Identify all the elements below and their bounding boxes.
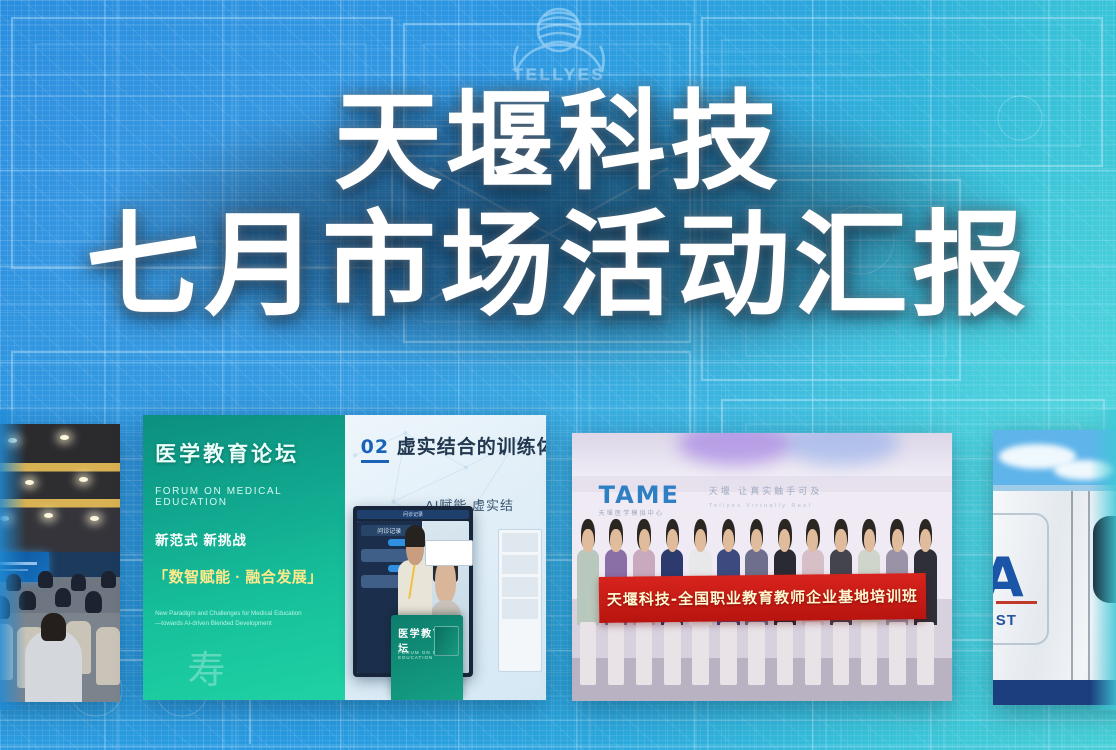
conference-hall-image [0,424,120,702]
tame-logo-subtitle: 天堰医学模拟中心 [599,508,665,517]
vehicle-logo-rule [996,601,1038,604]
photo-medical-education-forum: 医学教育论坛 FORUM ON MEDICAL EDUCATION 新范式 新挑… [143,415,546,700]
forum-backdrop-banner: 医学教育论坛 FORUM ON MEDICAL EDUCATION 新范式 新挑… [143,415,345,700]
forum-theme-en: New Paradigm and Challenges for Medical … [155,609,332,629]
vehicle-logo-letter: A [993,546,1024,609]
slide-number: 02 [361,436,389,463]
tablet-app-name: 问诊记录 [403,511,423,518]
training-class-banner: 天堰科技-全国职业教育教师企业基地培训班 [598,573,925,623]
venue-slogan-en: Tellyes Virtually Real [709,503,812,509]
slide-title: 虚实结合的训练体系 [397,436,546,458]
forum-theme-en-2: —towards AI-driven Blended Development [155,620,272,627]
group-photo-image: TAME 天堰医学模拟中心 天堰 让真实触手可及 Tellyes Virtual… [572,433,952,701]
page-title: 天堰科技 [0,86,1116,200]
tablet-titlebar: 问诊记录 [357,510,470,519]
vehicle-logo-text: ST [996,612,1017,629]
forum-watermark-icon: 寿 [187,639,225,694]
poster-headline: 天堰科技 七月市场活动汇报 [0,86,1116,327]
presentation-slide: 02 虚实结合的训练体系 AI赋能 虚实结 问诊记录 问诊记录 [345,415,547,700]
forum-theme-en-1: New Paradigm and Challenges for Medical … [155,610,302,617]
speaker-hair [405,525,425,547]
clinic-shelf-decor [498,529,542,672]
forum-theme-1: 新范式 新挑战 [155,529,247,549]
tame-logo: TAME [599,481,680,509]
photo-training-group: TAME 天堰医学模拟中心 天堰 让真实触手可及 Tellyes Virtual… [572,433,952,701]
photo-mobile-unit: A ST [993,430,1116,705]
forum-title-en: FORUM ON MEDICAL EDUCATION [155,486,344,508]
podium-badge [434,626,459,655]
page-subtitle: 七月市场活动汇报 [0,206,1116,327]
slide-title-line: 02 虚实结合的训练体系 [361,432,546,459]
photo-conference-hall [0,424,120,702]
vehicle-skirt [993,680,1116,694]
forum-title-cn: 医学教育论坛 [155,438,299,468]
forum-podium: 医学教育论坛 FORUM ON MEDICAL EDUCATION [391,615,464,701]
training-class-banner-text: 天堰科技-全国职业教育教师企业基地培训班 [606,585,917,610]
forum-theme-2: 「数智赋能 · 融合发展」 [153,566,323,587]
speaker-nameplate [425,540,473,566]
mobile-unit-image: A ST [993,430,1116,705]
venue-slogan-cn: 天堰 让真实触手可及 [709,484,823,497]
vehicle-window [1090,513,1116,607]
poster-canvas: TELLYES 天堰科技 七月市场活动汇报 [0,0,1116,750]
